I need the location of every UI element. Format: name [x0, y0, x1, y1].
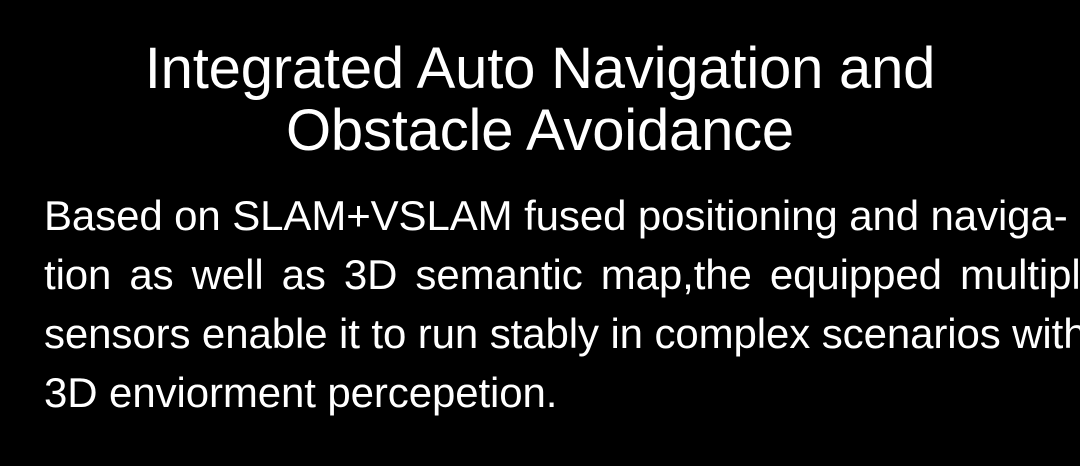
- page-title-line-1: Integrated Auto Navigation and: [0, 38, 1080, 100]
- slide-canvas: Integrated Auto Navigation and Obstacle …: [0, 0, 1080, 466]
- body-line-1: Based on SLAM+VSLAM fused positioning an…: [44, 186, 1037, 245]
- body-line-4: 3D enviorment percepetion.: [44, 363, 1037, 422]
- page-title: Integrated Auto Navigation and Obstacle …: [0, 38, 1080, 162]
- page-title-line-2: Obstacle Avoidance: [0, 100, 1080, 162]
- body-paragraph: Based on SLAM+VSLAM fused positioning an…: [44, 186, 1037, 422]
- body-line-2: tion as well as 3D semantic map,the equi…: [44, 245, 1037, 304]
- body-line-3: sensors enable it to run stably in compl…: [44, 304, 1037, 363]
